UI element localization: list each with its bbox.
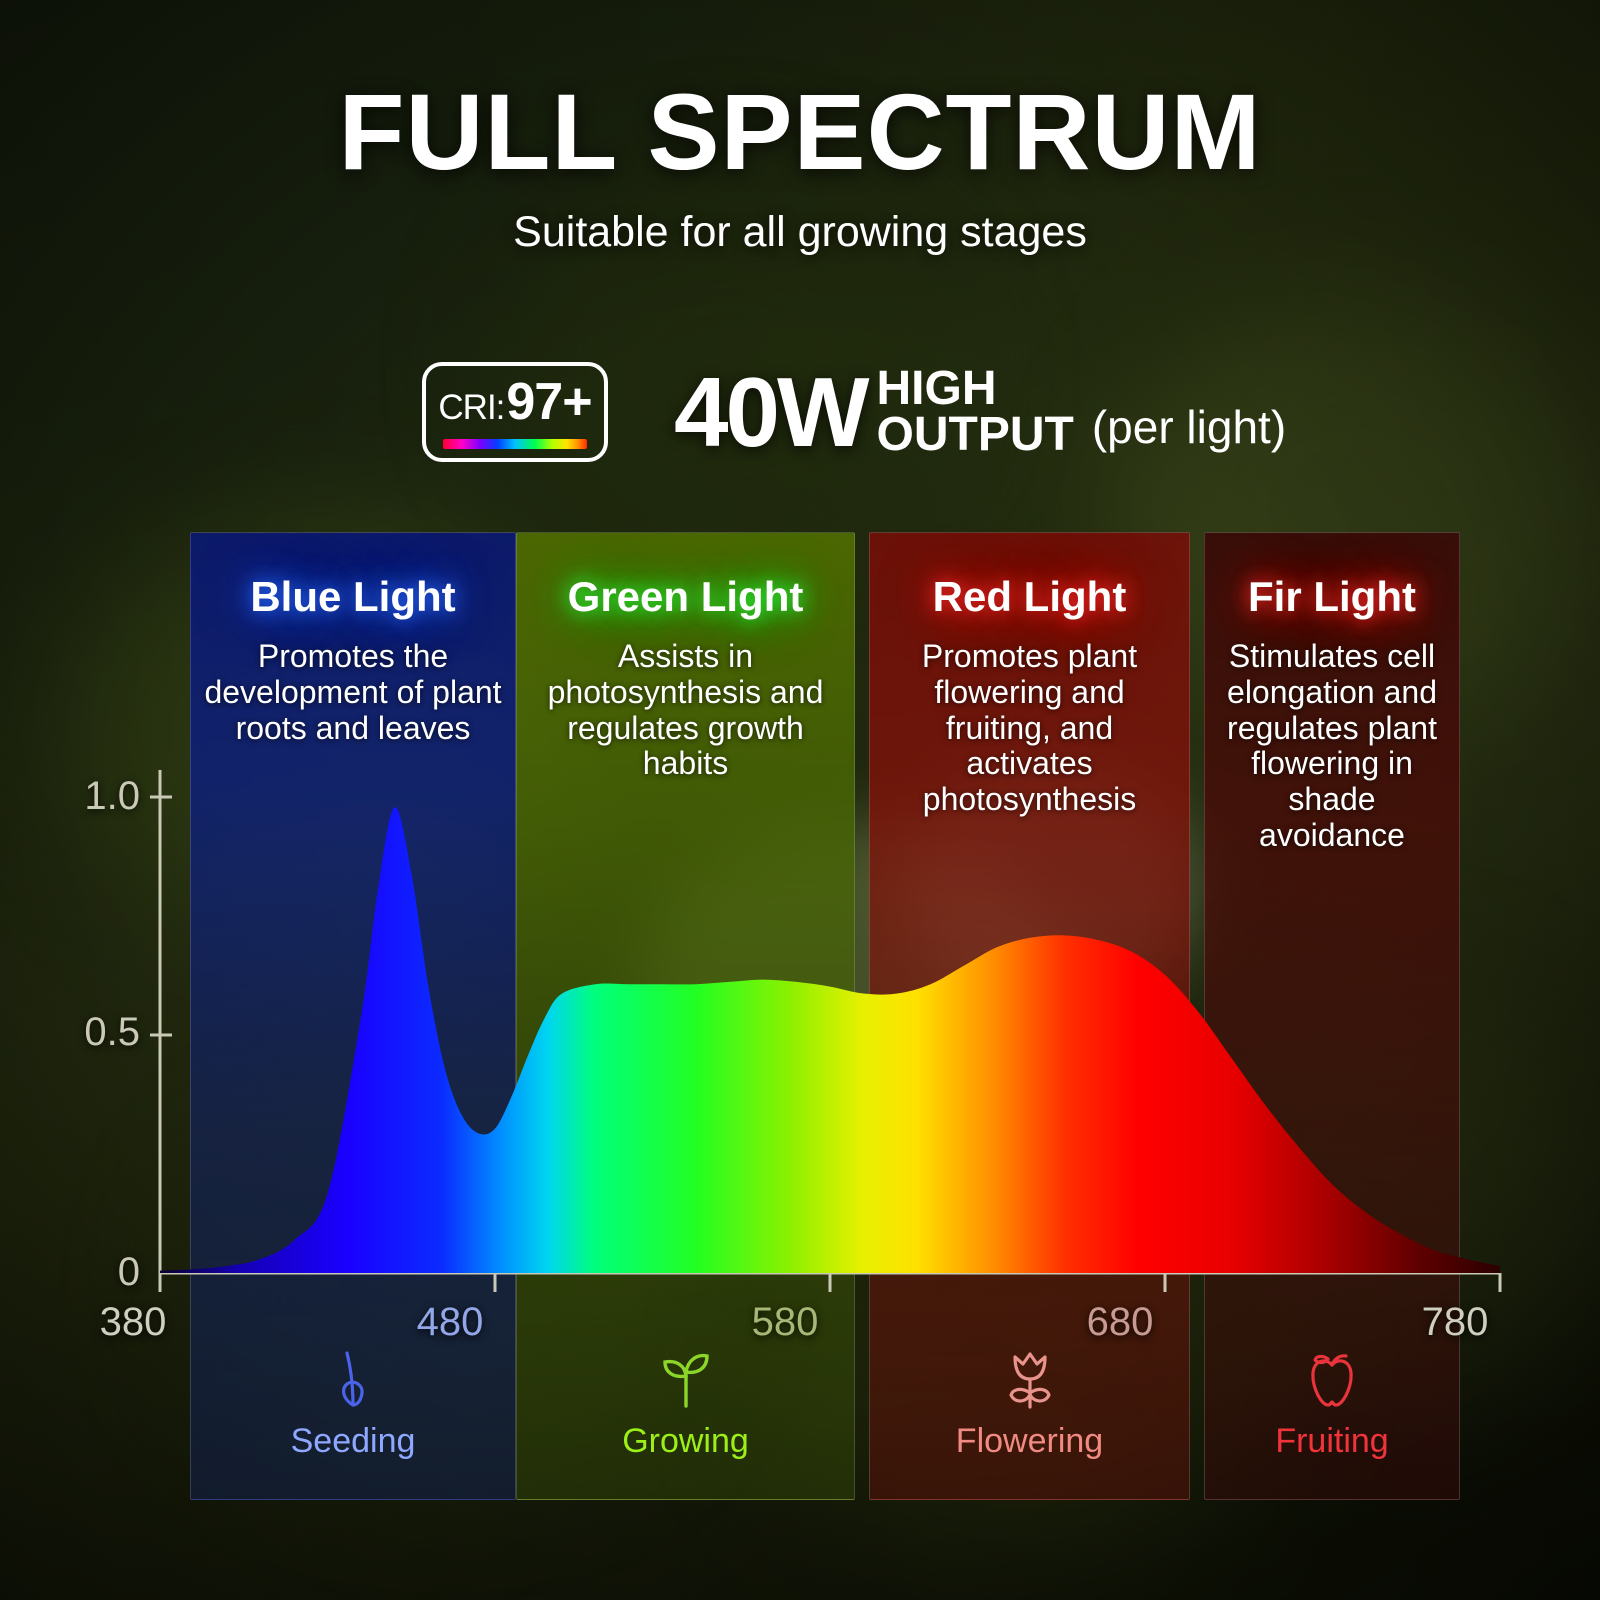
band-title-fir: Fir Light: [1205, 573, 1459, 621]
high-output-line1: HIGH: [877, 366, 1074, 412]
rainbow-gradient-bar-icon: [443, 439, 587, 449]
x-tick-label-380: 380: [68, 1300, 198, 1345]
x-tick-label-480: 480: [385, 1300, 515, 1345]
cri-label: CRI:: [438, 388, 504, 428]
wattage-value: 40W: [674, 369, 867, 455]
high-output-line2: OUTPUT: [877, 412, 1074, 458]
x-tick-label-780: 780: [1390, 1300, 1520, 1345]
apple-fruit-icon: [1205, 1346, 1459, 1412]
band-panel-blue[interactable]: Blue Light Promotes the development of p…: [190, 532, 516, 1500]
stage-label-red: Flowering: [870, 1422, 1189, 1461]
stage-label-fir: Fruiting: [1205, 1422, 1459, 1461]
y-tick-label-1: 1.0: [20, 774, 140, 819]
band-panel-red[interactable]: Red Light Promotes plant flowering and f…: [869, 532, 1190, 1500]
band-description-red: Promotes plant flowering and fruiting, a…: [870, 639, 1189, 818]
stage-label-green: Growing: [517, 1422, 854, 1461]
stage-fir: Fruiting: [1205, 1346, 1459, 1461]
band-title-blue: Blue Light: [191, 573, 515, 621]
band-description-green: Assists in photosynthesis and regulates …: [517, 639, 854, 782]
cri-row: CRI: 97+: [438, 372, 591, 432]
stage-blue: Seeding: [191, 1346, 515, 1461]
per-light-note: (per light): [1092, 400, 1286, 458]
page-title: FULL SPECTRUM: [0, 78, 1600, 186]
y-tick-label-05: 0.5: [20, 1010, 140, 1055]
cri-value: 97+: [506, 372, 591, 432]
cri-badge: CRI: 97+: [422, 362, 608, 462]
band-description-blue: Promotes the development of plant roots …: [191, 639, 515, 746]
band-panel-green[interactable]: Green Light Assists in photosynthesis an…: [516, 532, 855, 1500]
band-panel-fir[interactable]: Fir Light Stimulates cell elongation and…: [1204, 532, 1460, 1500]
stage-label-blue: Seeding: [191, 1422, 515, 1461]
stage-green: Growing: [517, 1346, 854, 1461]
stage-red: Flowering: [870, 1346, 1189, 1461]
tulip-flower-icon: [870, 1346, 1189, 1412]
x-tick-label-580: 580: [720, 1300, 850, 1345]
seedling-icon: [517, 1346, 854, 1412]
band-description-fir: Stimulates cell elongation and regulates…: [1205, 639, 1459, 854]
x-tick-label-680: 680: [1055, 1300, 1185, 1345]
header: FULL SPECTRUM Suitable for all growing s…: [0, 78, 1600, 257]
spec-row: CRI: 97+ 40W HIGH OUTPUT (per light): [422, 362, 1286, 462]
band-title-green: Green Light: [517, 573, 854, 621]
y-tick-label-0: 0: [20, 1250, 140, 1295]
page-subtitle: Suitable for all growing stages: [0, 208, 1600, 257]
high-output-label: HIGH OUTPUT: [877, 366, 1074, 457]
wattage-group: 40W HIGH OUTPUT (per light): [674, 366, 1286, 457]
band-title-red: Red Light: [870, 573, 1189, 621]
sprouting-seed-icon: [191, 1346, 515, 1412]
